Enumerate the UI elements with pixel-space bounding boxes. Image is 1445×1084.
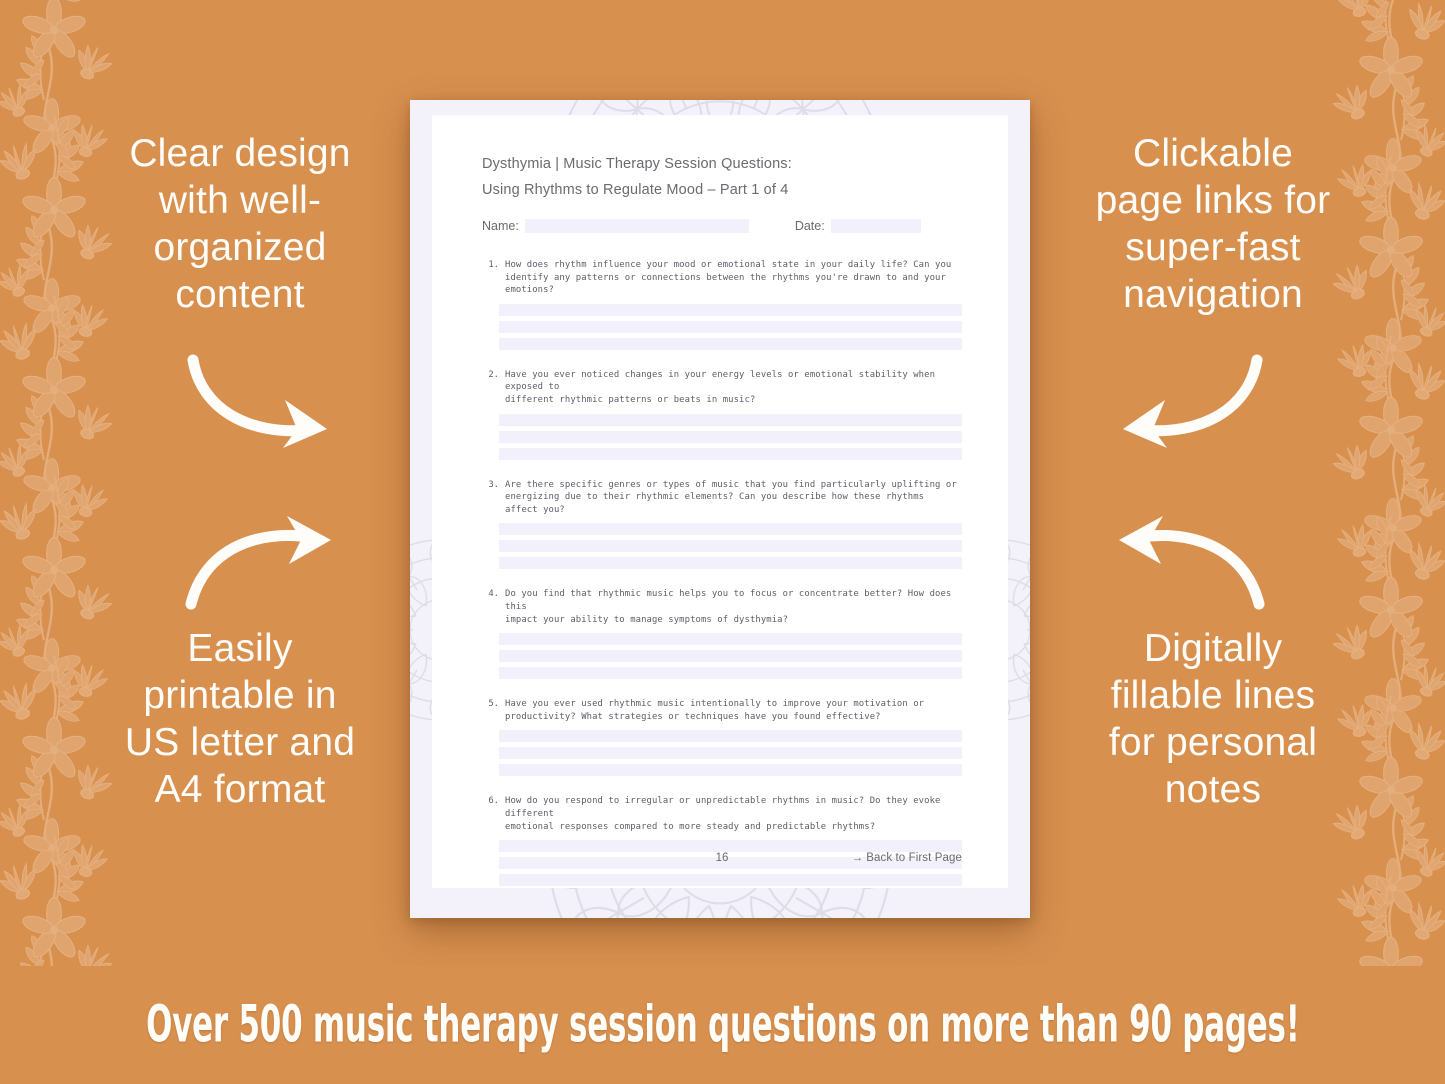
promo-text-top-left: Clear design with well- organized conten… <box>104 130 376 318</box>
curved-arrow-down-left-icon <box>1095 352 1275 467</box>
answer-line[interactable] <box>499 730 962 742</box>
question-row: 5.Have you ever used rhythmic music inte… <box>482 698 962 723</box>
date-label: Date: <box>795 219 825 233</box>
answer-line[interactable] <box>499 304 962 316</box>
name-label: Name: <box>482 219 519 233</box>
answer-line[interactable] <box>499 874 962 886</box>
question-text: Do you find that rhythmic music helps yo… <box>505 588 962 626</box>
worksheet-page: Dysthymia | Music Therapy Session Questi… <box>410 100 1030 918</box>
answer-line[interactable] <box>499 667 962 679</box>
question-number: 4. <box>482 588 505 626</box>
answer-line[interactable] <box>499 540 962 552</box>
worksheet-card: Dysthymia | Music Therapy Session Questi… <box>432 115 1008 888</box>
answer-line[interactable] <box>499 650 962 662</box>
date-input[interactable] <box>831 219 921 233</box>
curved-arrow-down-right-icon <box>175 352 355 467</box>
answer-line[interactable] <box>499 764 962 776</box>
promo-text-bottom-left: Easily printable in US letter and A4 for… <box>104 625 376 813</box>
answer-lines <box>499 730 962 776</box>
promo-text-top-right: Clickable page links for super-fast navi… <box>1077 130 1349 318</box>
name-date-row: Name: Date: <box>482 219 962 233</box>
promo-text-bottom-right: Digitally fillable lines for personal no… <box>1077 625 1349 813</box>
page-number: 16 <box>716 852 729 864</box>
question-number: 1. <box>482 259 505 297</box>
answer-line[interactable] <box>499 448 962 460</box>
questions-list: 1.How does rhythm influence your mood or… <box>482 259 962 886</box>
bottom-banner-text: Over 500 music therapy session questions… <box>146 996 1299 1055</box>
question-block: 3.Are there specific genres or types of … <box>482 479 962 570</box>
curved-arrow-up-right-icon <box>175 512 355 617</box>
question-text: Are there specific genres or types of mu… <box>505 479 962 517</box>
question-number: 3. <box>482 479 505 517</box>
arrow-right-icon: → <box>852 852 864 864</box>
answer-lines <box>499 304 962 350</box>
question-number: 6. <box>482 795 505 833</box>
question-block: 5.Have you ever used rhythmic music inte… <box>482 698 962 776</box>
back-to-first-page-label: Back to First Page <box>866 852 962 864</box>
answer-lines <box>499 633 962 679</box>
bottom-banner: Over 500 music therapy session questions… <box>0 966 1445 1084</box>
answer-lines <box>499 414 962 460</box>
question-text: How do you respond to irregular or unpre… <box>505 795 962 833</box>
question-number: 2. <box>482 369 505 407</box>
question-text: Have you ever noticed changes in your en… <box>505 369 962 407</box>
question-row: 3.Are there specific genres or types of … <box>482 479 962 517</box>
answer-line[interactable] <box>499 338 962 350</box>
name-input[interactable] <box>525 219 749 233</box>
back-to-first-page-link[interactable]: →Back to First Page <box>852 852 962 864</box>
question-text: Have you ever used rhythmic music intent… <box>505 698 962 723</box>
question-block: 6.How do you respond to irregular or unp… <box>482 795 962 886</box>
answer-line[interactable] <box>499 840 962 852</box>
answer-line[interactable] <box>499 747 962 759</box>
answer-line[interactable] <box>499 431 962 443</box>
page-title: Dysthymia | Music Therapy Session Questi… <box>482 152 962 203</box>
question-block: 4.Do you find that rhythmic music helps … <box>482 588 962 679</box>
question-block: 1.How does rhythm influence your mood or… <box>482 259 962 350</box>
page-footer: 16 →Back to First Page <box>482 852 962 864</box>
question-number: 5. <box>482 698 505 723</box>
answer-line[interactable] <box>499 414 962 426</box>
question-row: 2.Have you ever noticed changes in your … <box>482 369 962 407</box>
answer-line[interactable] <box>499 321 962 333</box>
answer-line[interactable] <box>499 633 962 645</box>
answer-line[interactable] <box>499 557 962 569</box>
curved-arrow-up-left-icon <box>1095 512 1275 617</box>
answer-lines <box>499 523 962 569</box>
answer-line[interactable] <box>499 523 962 535</box>
question-row: 4.Do you find that rhythmic music helps … <box>482 588 962 626</box>
question-text: How does rhythm influence your mood or e… <box>505 259 962 297</box>
question-row: 1.How does rhythm influence your mood or… <box>482 259 962 297</box>
question-row: 6.How do you respond to irregular or unp… <box>482 795 962 833</box>
question-block: 2.Have you ever noticed changes in your … <box>482 369 962 460</box>
